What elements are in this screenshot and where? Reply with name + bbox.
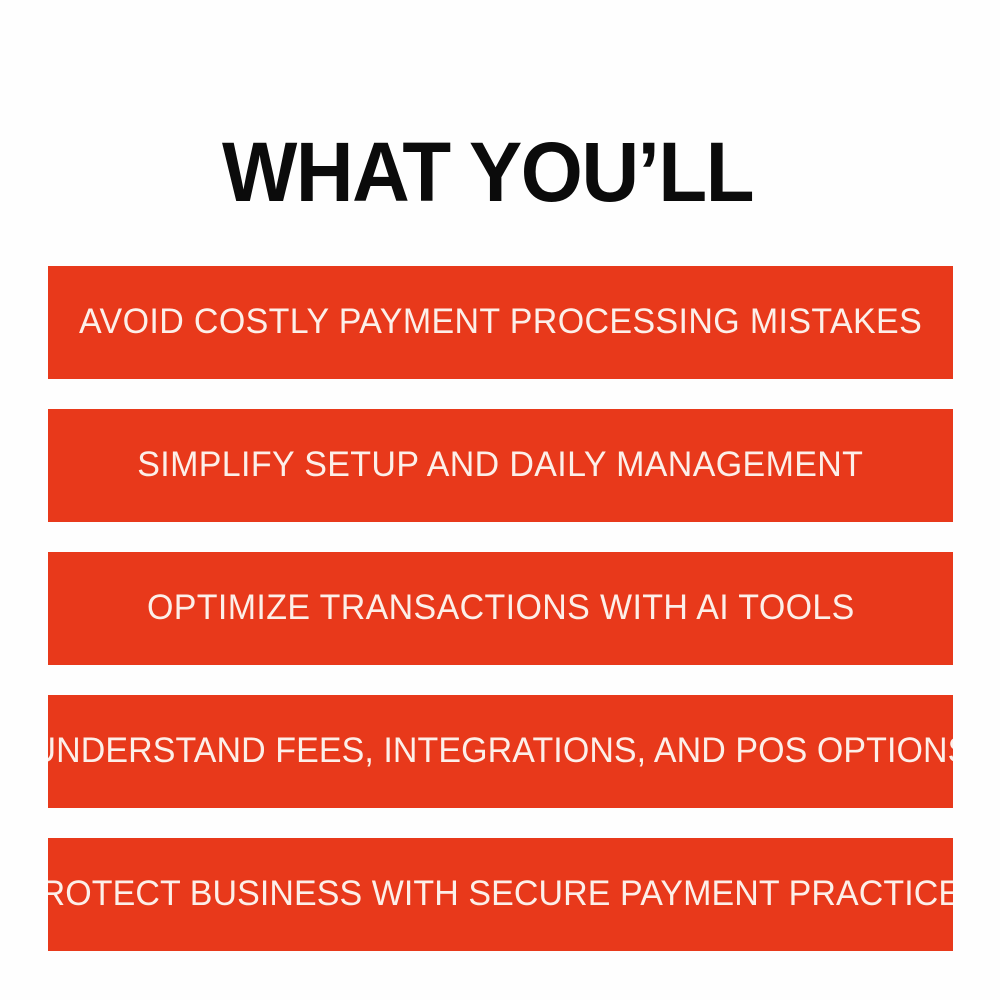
page-title-line-1: WHAT YOU’LL [222, 132, 925, 212]
benefit-bar: PROTECT BUSINESS WITH SECURE PAYMENT PRA… [48, 838, 953, 951]
benefit-bar: AVOID COSTLY PAYMENT PROCESSING MISTAKES [48, 266, 953, 379]
benefit-bar-label: PROTECT BUSINESS WITH SECURE PAYMENT PRA… [48, 876, 953, 912]
benefit-bar: UNDERSTAND FEES, INTEGRATIONS, AND POS O… [48, 695, 953, 808]
benefit-bar: SIMPLIFY SETUP AND DAILY MANAGEMENT [48, 409, 953, 522]
benefit-bar-list: AVOID COSTLY PAYMENT PROCESSING MISTAKES… [48, 266, 953, 951]
slide-root: WHAT YOU’LL LEARN INSIDE AVOID COSTLY PA… [0, 0, 1000, 1000]
benefit-bar-label: OPTIMIZE TRANSACTIONS WITH AI TOOLS [147, 590, 855, 626]
benefit-bar: OPTIMIZE TRANSACTIONS WITH AI TOOLS [48, 552, 953, 665]
benefit-bar-label: UNDERSTAND FEES, INTEGRATIONS, AND POS O… [48, 733, 953, 769]
benefit-bar-label: SIMPLIFY SETUP AND DAILY MANAGEMENT [137, 447, 863, 483]
benefit-bar-label: AVOID COSTLY PAYMENT PROCESSING MISTAKES [79, 304, 922, 340]
